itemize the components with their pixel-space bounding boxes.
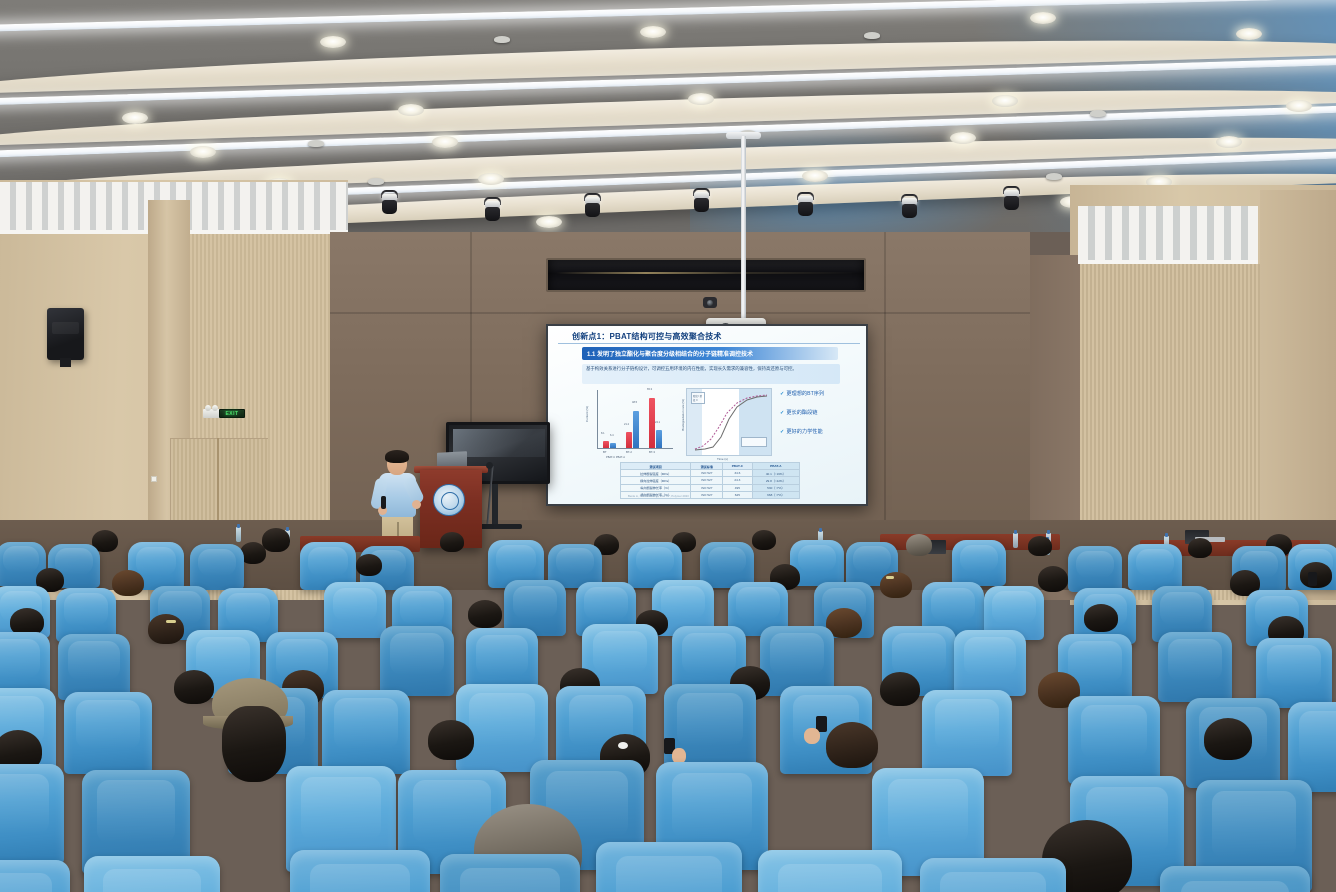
bar: [626, 432, 632, 448]
audience-area: [0, 520, 1336, 892]
slide-bullet: ✓更长的酯段链: [780, 409, 864, 416]
audience-head: [1204, 718, 1252, 760]
table-header: PBAT-A: [752, 463, 799, 470]
table-row: 横向拉伸强度（MPa） ISO 527 24.3 29.8（↑22%）: [621, 477, 800, 484]
table-row: 拉伸断裂强度（MPa） ISO 527 34.6 40.1（↑16%）: [621, 470, 800, 477]
downlight: [640, 26, 666, 38]
smoke-detector: [864, 32, 880, 39]
ptz-camera: [703, 297, 717, 308]
audience-head-long-hair: [222, 706, 286, 782]
downlight: [992, 95, 1018, 107]
table-cell: 625: [723, 491, 753, 498]
smoke-detector: [308, 140, 324, 147]
seat[interactable]: [1158, 632, 1232, 702]
audience-head: [148, 614, 184, 644]
sprinkler-head: [1046, 173, 1062, 180]
presenter-hair: [385, 450, 409, 463]
bar: [656, 430, 662, 448]
hair-clip: [166, 620, 176, 623]
line-chart-ylabel: Biodegradation rate (%): [681, 399, 685, 431]
downlight: [688, 93, 714, 105]
bar-category: BT: [603, 450, 607, 454]
table-row: 纵向断裂伸长率（%） ISO 527 495 530（↑7%）: [621, 484, 800, 491]
seat[interactable]: [58, 634, 130, 700]
slide-bullet: ✓更好的力学性能: [780, 428, 864, 435]
exit-sign-label: EXIT: [225, 411, 238, 417]
slide-bullet-list: ✓更理想的BT序列 ✓更长的酯段链 ✓更好的力学性能: [780, 390, 864, 447]
audience-head: [174, 670, 214, 704]
slide-section-heading: 1.1 发明了独立酯化与聚合度分级相结合的分子链精准调控技术: [582, 349, 753, 358]
seat[interactable]: [324, 582, 386, 638]
bar: [610, 443, 616, 448]
audience-head: [356, 554, 382, 576]
downlight: [320, 36, 346, 48]
seat[interactable]: [922, 690, 1012, 776]
stage-spotlight: [900, 194, 919, 218]
bar: [633, 411, 639, 448]
audience-head: [826, 722, 878, 768]
bar: [603, 441, 609, 448]
seat[interactable]: [1160, 866, 1310, 892]
light-switch[interactable]: [151, 476, 157, 482]
table-cell: 40.1（↑16%）: [752, 470, 799, 477]
stage-spotlight: [483, 197, 502, 221]
audience-head: [262, 528, 290, 552]
bar-value: 8.1: [601, 432, 605, 435]
hair-scrunchie: [618, 742, 628, 749]
mobile-phone: [1308, 572, 1317, 586]
audience-head: [880, 572, 912, 598]
bar-value: 48.5: [632, 401, 637, 404]
downlight: [432, 136, 458, 148]
bar-chart-ylabel: Content (%): [585, 406, 593, 422]
seat[interactable]: [440, 854, 580, 892]
check-icon: ✓: [780, 429, 784, 435]
table-cell: ISO 527: [691, 484, 723, 491]
seat[interactable]: [64, 692, 152, 774]
seat[interactable]: [0, 764, 64, 864]
backdrop-seam: [330, 312, 1030, 314]
downlight: [190, 146, 216, 158]
audience-head: [1084, 604, 1118, 632]
smoke-detector: [1090, 110, 1106, 117]
audience-head: [428, 720, 474, 760]
hair-clip: [886, 576, 894, 579]
table-cell: ISO 527: [691, 477, 723, 484]
slide-note-box: 基于构效关系进行分子链构设计，可调控五用环境的内在性能，实现长久需求的兼容性，保…: [582, 364, 840, 384]
downlight: [1236, 28, 1262, 40]
slide-line-chart: Biodegradation rate (%) Time (s) 阶段 I 阶段…: [686, 388, 772, 456]
bar-chart-footnote: PBAT-C PBAT-A: [606, 456, 625, 459]
audience-head: [752, 530, 776, 550]
presenter-right-hand: [412, 500, 421, 509]
seat[interactable]: [1068, 696, 1160, 784]
lectern-emblem: [433, 484, 465, 516]
stage-spotlight: [1002, 186, 1021, 210]
table-header-row: 测试项目 测试标准 PBAT-C PBAT-A: [621, 463, 800, 470]
led-banner-display: [546, 258, 866, 292]
downlight: [950, 132, 976, 144]
right-wall-slats: [1078, 206, 1258, 264]
stage-spotlight: [380, 190, 399, 214]
table-header: 测试标准: [691, 463, 723, 470]
table-cell: ISO 527: [691, 470, 723, 477]
downlight: [122, 112, 148, 124]
downlight: [536, 216, 562, 228]
audience-head: [906, 534, 932, 556]
slide-title: 创新点1：PBAT结构可控与高效聚合技术: [572, 331, 856, 342]
seat[interactable]: [596, 842, 742, 892]
check-icon: ✓: [780, 410, 784, 416]
loudspeaker-bracket: [60, 358, 71, 367]
audience-head: [1038, 566, 1068, 592]
bar-value: 6.4: [610, 434, 614, 437]
slide-section-banner: 1.1 发明了独立酯化与聚合度分级相结合的分子链精准调控技术: [582, 347, 838, 360]
exit-sign: EXIT: [219, 409, 245, 418]
seat[interactable]: [290, 850, 430, 892]
auditorium-photo: EPSON 创新点1：PBAT结构可控与高效聚合技术 1.1 发明了独立酯化与聚…: [0, 0, 1336, 892]
audience-head: [1028, 536, 1052, 556]
seat[interactable]: [190, 544, 244, 590]
backdrop-seam: [884, 232, 886, 532]
table-cell: 纵向断裂伸长率（%）: [621, 484, 691, 491]
seat[interactable]: [758, 850, 902, 892]
bar-value: 21.2: [624, 423, 629, 426]
audience-head: [440, 532, 464, 552]
wall-loudspeaker: [47, 308, 84, 360]
seat[interactable]: [322, 690, 410, 774]
audience-head: [112, 570, 144, 596]
audience-head: [880, 672, 920, 706]
table-cell: 24.3: [723, 477, 753, 484]
bar-chart-y-axis: [597, 390, 598, 448]
table-cell: 495: [723, 484, 753, 491]
line-chart-curves: [687, 389, 773, 457]
downlight: [1216, 136, 1242, 148]
stage-spotlight: [692, 188, 711, 212]
projector-pole: [741, 136, 746, 322]
check-icon: ✓: [780, 391, 784, 397]
bar-category: BT-2: [626, 450, 632, 454]
slide-bar-chart: Content (%) 8.1 6.4 21.2 48.5 65.3 24.1 …: [584, 388, 676, 456]
downlight: [478, 173, 504, 185]
table-cell: 34.6: [723, 470, 753, 477]
seat[interactable]: [84, 856, 220, 892]
slide-citation: Benle Li, Xianbo Huang*, Wei Yu*, Polyme…: [628, 494, 689, 498]
bar-chart-x-axis: [597, 448, 673, 449]
audience-head: [468, 600, 502, 628]
seat[interactable]: [952, 540, 1006, 586]
bar-value: 65.3: [647, 388, 652, 391]
seat[interactable]: [1068, 546, 1122, 592]
seat[interactable]: [380, 626, 454, 696]
seat[interactable]: [920, 858, 1066, 892]
table-header: PBAT-C: [723, 463, 753, 470]
seat[interactable]: [0, 860, 70, 892]
downlight: [802, 170, 828, 182]
seat[interactable]: [1288, 702, 1336, 792]
seat[interactable]: [1128, 544, 1182, 590]
slide-bullet: ✓更理想的BT序列: [780, 390, 864, 397]
raised-hand: [804, 728, 820, 744]
line-chart-xlabel: Time (s): [717, 457, 728, 461]
projection-screen: 创新点1：PBAT结构可控与高效聚合技术 1.1 发明了独立酯化与聚合度分级相结…: [546, 324, 868, 506]
downlight: [398, 104, 424, 116]
slide-note-text: 基于构效关系进行分子链构设计，可调控五用环境的内在性能，实现长久需求的兼容性，保…: [586, 366, 836, 373]
downlight: [1030, 12, 1056, 24]
slide-title-rule: [558, 343, 860, 344]
seat[interactable]: [954, 630, 1026, 696]
audience-head: [1188, 538, 1212, 558]
smoke-detector: [494, 36, 510, 43]
sprinkler-head: [368, 178, 384, 185]
table-cell: ISO 527: [691, 491, 723, 498]
stage-spotlight: [583, 193, 602, 217]
table-header: 测试项目: [621, 463, 691, 470]
presentation-slide: 创新点1：PBAT结构可控与高效聚合技术 1.1 发明了独立酯化与聚合度分级相结…: [548, 326, 866, 504]
handheld-microphone: [381, 496, 386, 509]
bar-category: BT-3: [649, 450, 655, 454]
microphone-head: [486, 462, 493, 469]
downlight: [1286, 100, 1312, 112]
bar-value: 24.1: [655, 421, 660, 424]
table-cell: 拉伸断裂强度（MPa）: [621, 470, 691, 477]
table-cell: 横向拉伸强度（MPa）: [621, 477, 691, 484]
stage-spotlight: [796, 192, 815, 216]
table-cell: 668（↑7%）: [752, 491, 799, 498]
table-cell: 530（↑7%）: [752, 484, 799, 491]
table-cell: 29.8（↑22%）: [752, 477, 799, 484]
emergency-light: [203, 409, 220, 418]
